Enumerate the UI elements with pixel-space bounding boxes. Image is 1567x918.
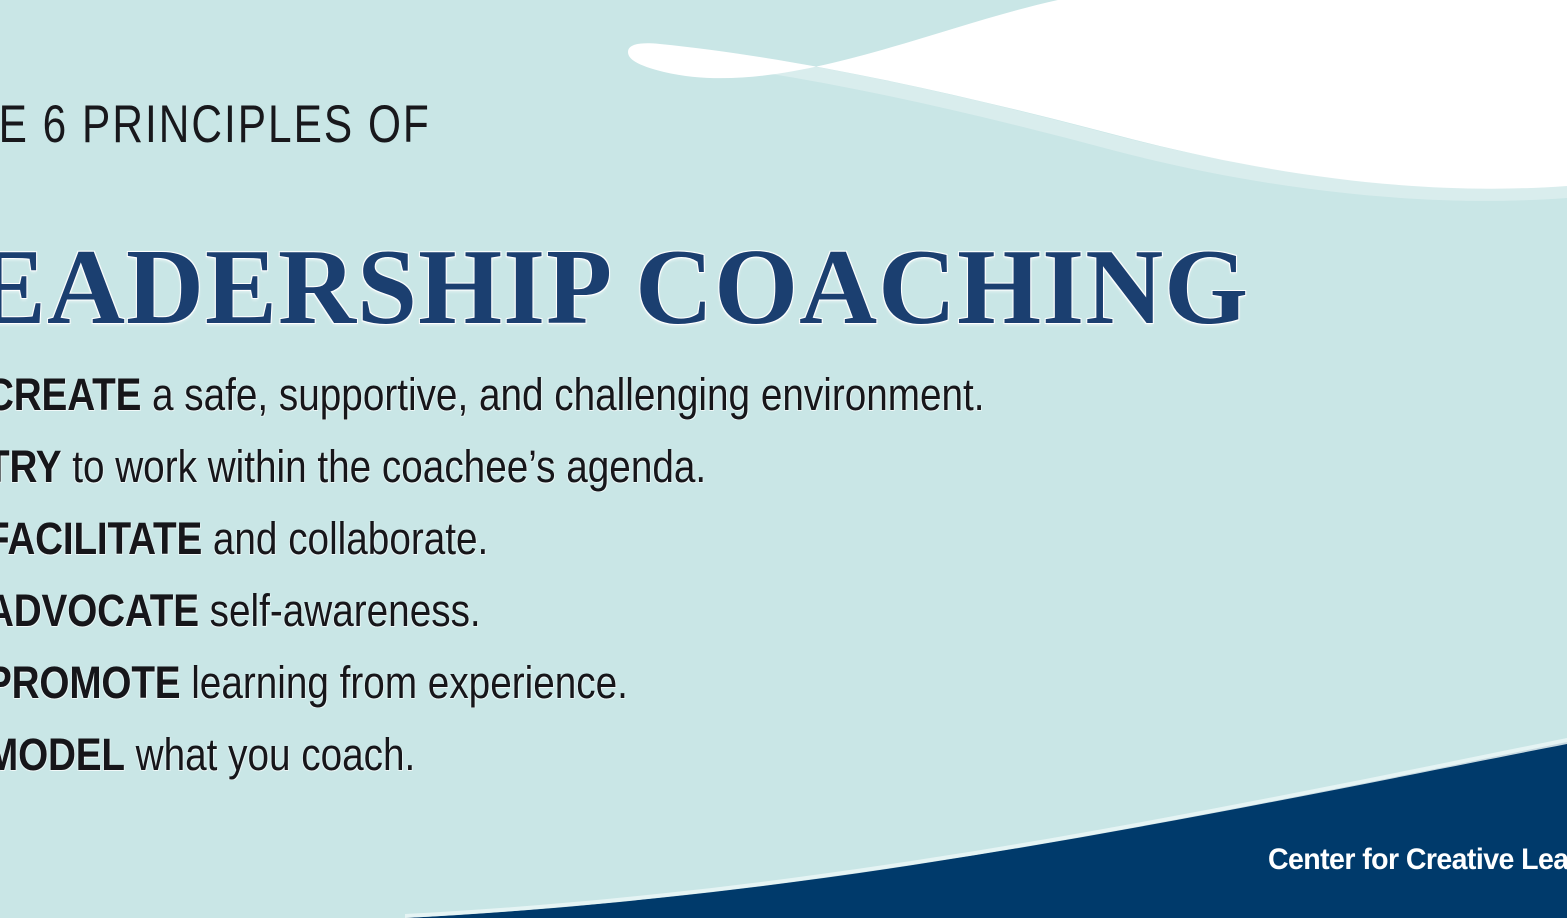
principle-item: PROMOTE learning from experience. [0, 660, 1018, 732]
principle-keyword: FACILITATE [0, 513, 202, 564]
principle-item: MODEL what you coach. [0, 732, 1018, 804]
principle-text: learning from experience. [180, 657, 627, 708]
principle-keyword: CREATE [0, 369, 141, 420]
principle-keyword: PROMOTE [0, 657, 180, 708]
page-title: EADERSHIP COACHING [0, 234, 1249, 342]
principle-item: FACILITATE and collaborate. [0, 516, 1018, 588]
principle-item: ADVOCATE self-awareness. [0, 588, 1018, 660]
principle-item: CREATE a safe, supportive, and challengi… [0, 372, 1018, 444]
principle-text: and collaborate. [202, 513, 488, 564]
poster-canvas: HE 6 PRINCIPLES OF EADERSHIP COACHING CR… [0, 0, 1567, 918]
kicker-text: HE 6 PRINCIPLES OF [0, 98, 431, 151]
principle-text: self-awareness. [199, 585, 481, 636]
principle-text: what you coach. [125, 729, 415, 780]
principle-text: to work within the coachee’s agenda. [61, 441, 706, 492]
principle-item: TRY to work within the coachee’s agenda. [0, 444, 1018, 516]
principle-keyword: ADVOCATE [0, 585, 199, 636]
organization-wordmark: Center for Creative Leadersh [1268, 842, 1567, 878]
principle-text: a safe, supportive, and challenging envi… [141, 369, 984, 420]
principle-keyword: MODEL [0, 729, 125, 780]
principles-list: CREATE a safe, supportive, and challengi… [0, 372, 1186, 804]
principle-keyword: TRY [0, 441, 61, 492]
